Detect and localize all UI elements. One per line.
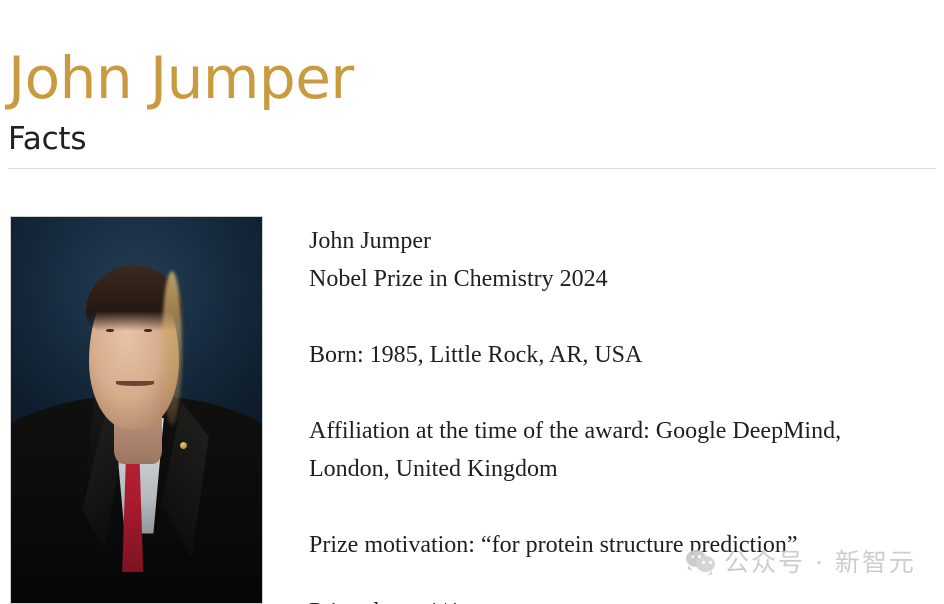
fact-block-prize-share-clipped: Prize share: 1/4 (309, 595, 939, 604)
fact-block-prize-share: Prize share: 1/4 (309, 595, 458, 604)
fact-line: Prize motivation: “for protein structure… (309, 526, 939, 564)
fact-block-affiliation: Affiliation at the time of the award: Go… (309, 412, 939, 488)
page-title: John Jumper (8, 47, 354, 110)
portrait-eye-right (144, 329, 152, 332)
fact-line: Affiliation at the time of the award: Go… (309, 412, 939, 450)
laureate-portrait (10, 216, 263, 604)
fact-line: Born: 1985, Little Rock, AR, USA (309, 336, 939, 374)
fact-block-identity: John Jumper Nobel Prize in Chemistry 202… (309, 222, 939, 298)
fact-line: John Jumper (309, 222, 939, 260)
fact-line: Prize share: 1/4 (309, 595, 458, 604)
fact-block-born: Born: 1985, Little Rock, AR, USA (309, 336, 939, 374)
section-heading-facts: Facts (8, 122, 86, 156)
portrait-image (11, 217, 262, 603)
facts-text-column: John Jumper Nobel Prize in Chemistry 202… (309, 222, 939, 564)
portrait-eye-left (106, 329, 114, 332)
fact-line: London, United Kingdom (309, 450, 939, 488)
portrait-rim-light (162, 271, 182, 425)
header-divider (8, 168, 936, 169)
laureate-facts-page: John Jumper Facts John Jumper Nobel Priz… (0, 0, 944, 604)
fact-line: Nobel Prize in Chemistry 2024 (309, 260, 939, 298)
portrait-lapel-pin (180, 442, 187, 449)
fact-block-prize-motivation: Prize motivation: “for protein structure… (309, 526, 939, 564)
